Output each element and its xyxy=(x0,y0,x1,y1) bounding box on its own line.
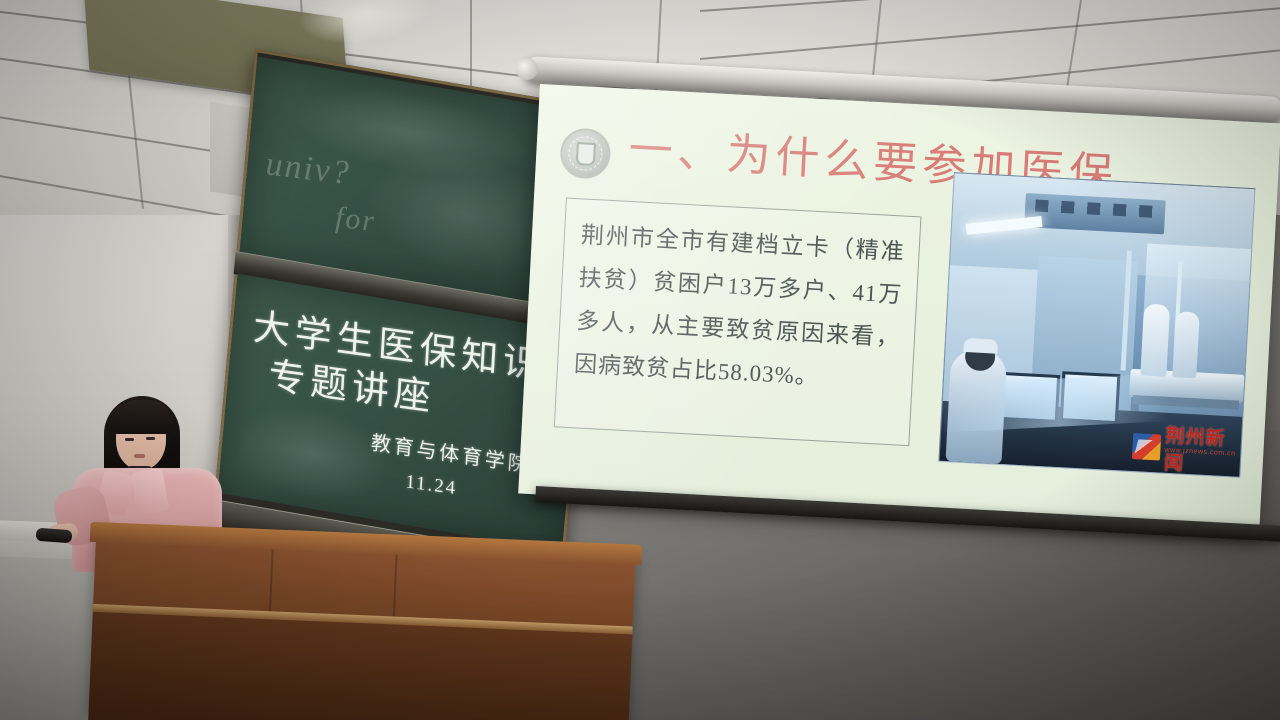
photo-staff-cap xyxy=(963,338,998,354)
slide-text-box: 荆州市全市有建档立卡（精准扶贫）贫困户13万多户、41万多人，从主要致贫原因来看… xyxy=(554,198,922,447)
presenter-mouth xyxy=(134,454,145,458)
photo-nurse-1 xyxy=(1140,303,1170,376)
photo-nurse-2 xyxy=(1172,311,1199,378)
lecture-hall-screenshot: univ? for 大学生医保知识 专题讲座 教育与体育学院 11.24 一、为… xyxy=(0,0,1280,720)
projection-screen: 一、为什么要参加医保 荆州市全市有建档立卡（精准扶贫）贫困户13万多户、41万多… xyxy=(518,84,1280,533)
presenter-eye-right xyxy=(146,437,155,440)
wooden-podium xyxy=(88,536,635,720)
blackboard-date: 11.24 xyxy=(405,471,458,500)
roller-end-cap xyxy=(515,58,538,81)
presentation-remote[interactable] xyxy=(36,528,73,543)
university-emblem-icon xyxy=(559,127,612,180)
presenter-fringe xyxy=(110,400,174,434)
news-logo-icon xyxy=(1132,433,1162,460)
hospital-icu-photo: 荆州新闻 www.jznews.com.cn xyxy=(938,172,1255,478)
emblem-shield-icon xyxy=(575,142,595,166)
presenter-eye-left xyxy=(125,438,134,441)
slide-body-text: 荆州市全市有建档立卡（精准扶贫）贫困户13万多户、41万多人，从主要致贫原因来看… xyxy=(573,213,906,402)
blackboard-faint-text-2: for xyxy=(335,200,377,239)
blackboard-department: 教育与体育学院 xyxy=(370,426,531,478)
